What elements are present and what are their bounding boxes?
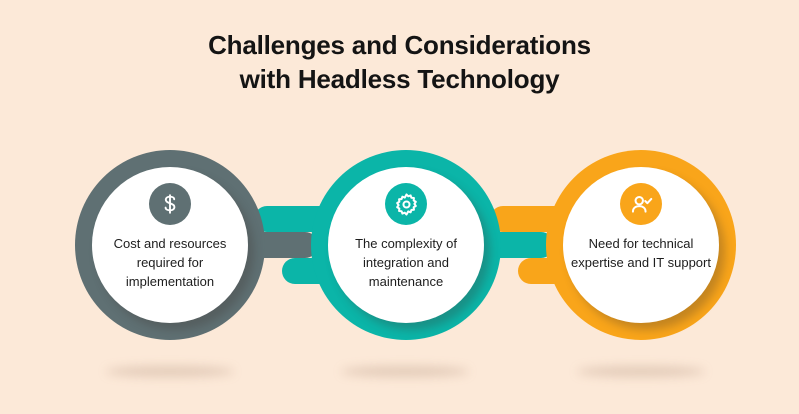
step-node-expertise[interactable]: Need for technical expertise and IT supp… [546,150,736,340]
step-card-3: Need for technical expertise and IT supp… [563,167,719,323]
user-check-icon [620,183,662,225]
step-card-2: The complexity of integration and mainte… [328,167,484,323]
step-text-1: Cost and resources required for implemen… [97,234,243,291]
circle-shadow-1 [106,366,234,377]
step-text-3: Need for technical expertise and IT supp… [568,234,714,272]
dollar-icon [149,183,191,225]
step-node-cost[interactable]: Cost and resources required for implemen… [75,150,265,340]
circle-shadow-3 [577,366,705,377]
gear-icon [385,183,427,225]
page-title: Challenges and Considerations with Headl… [0,28,799,96]
step-node-complexity[interactable]: The complexity of integration and mainte… [311,150,501,340]
circle-shadow-2 [341,366,469,377]
infographic-canvas: Challenges and Considerations with Headl… [0,0,799,414]
step-text-2: The complexity of integration and mainte… [333,234,479,291]
step-card-1: Cost and resources required for implemen… [92,167,248,323]
